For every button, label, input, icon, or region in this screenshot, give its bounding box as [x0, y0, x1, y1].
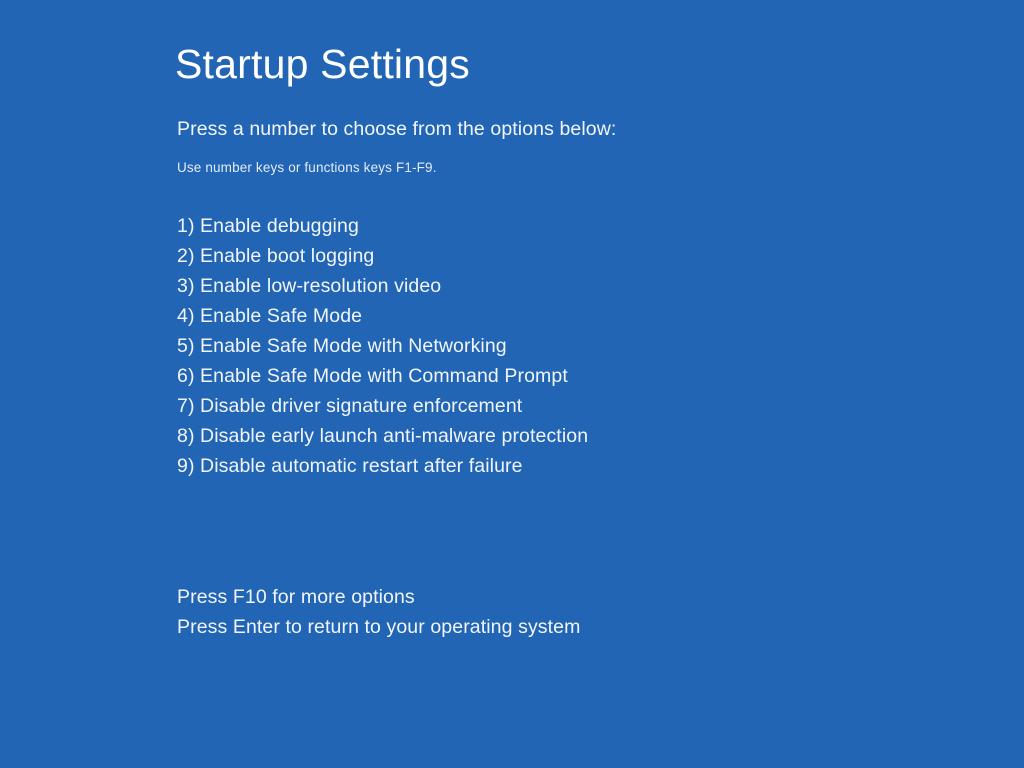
page-title: Startup Settings	[175, 44, 937, 85]
more-options-action[interactable]: Press F10 for more options	[177, 582, 937, 612]
footer-actions: Press F10 for more options Press Enter t…	[177, 582, 937, 642]
hint-text: Use number keys or functions keys F1-F9.	[177, 160, 937, 176]
option-disable-automatic-restart-after-failure[interactable]: 9) Disable automatic restart after failu…	[177, 451, 937, 481]
option-enable-debugging[interactable]: 1) Enable debugging	[177, 211, 937, 241]
option-enable-safe-mode[interactable]: 4) Enable Safe Mode	[177, 301, 937, 331]
startup-options-list: 1) Enable debugging 2) Enable boot loggi…	[177, 211, 937, 481]
option-disable-early-launch-anti-malware-protection[interactable]: 8) Disable early launch anti-malware pro…	[177, 421, 937, 451]
content-container: Startup Settings Press a number to choos…	[177, 44, 937, 642]
option-enable-safe-mode-with-command-prompt[interactable]: 6) Enable Safe Mode with Command Prompt	[177, 361, 937, 391]
prompt-text: Press a number to choose from the option…	[177, 118, 937, 141]
startup-settings-screen: Startup Settings Press a number to choos…	[0, 0, 1024, 768]
option-enable-safe-mode-with-networking[interactable]: 5) Enable Safe Mode with Networking	[177, 331, 937, 361]
option-enable-low-resolution-video[interactable]: 3) Enable low-resolution video	[177, 271, 937, 301]
return-to-os-action[interactable]: Press Enter to return to your operating …	[177, 612, 937, 642]
option-enable-boot-logging[interactable]: 2) Enable boot logging	[177, 241, 937, 271]
option-disable-driver-signature-enforcement[interactable]: 7) Disable driver signature enforcement	[177, 391, 937, 421]
